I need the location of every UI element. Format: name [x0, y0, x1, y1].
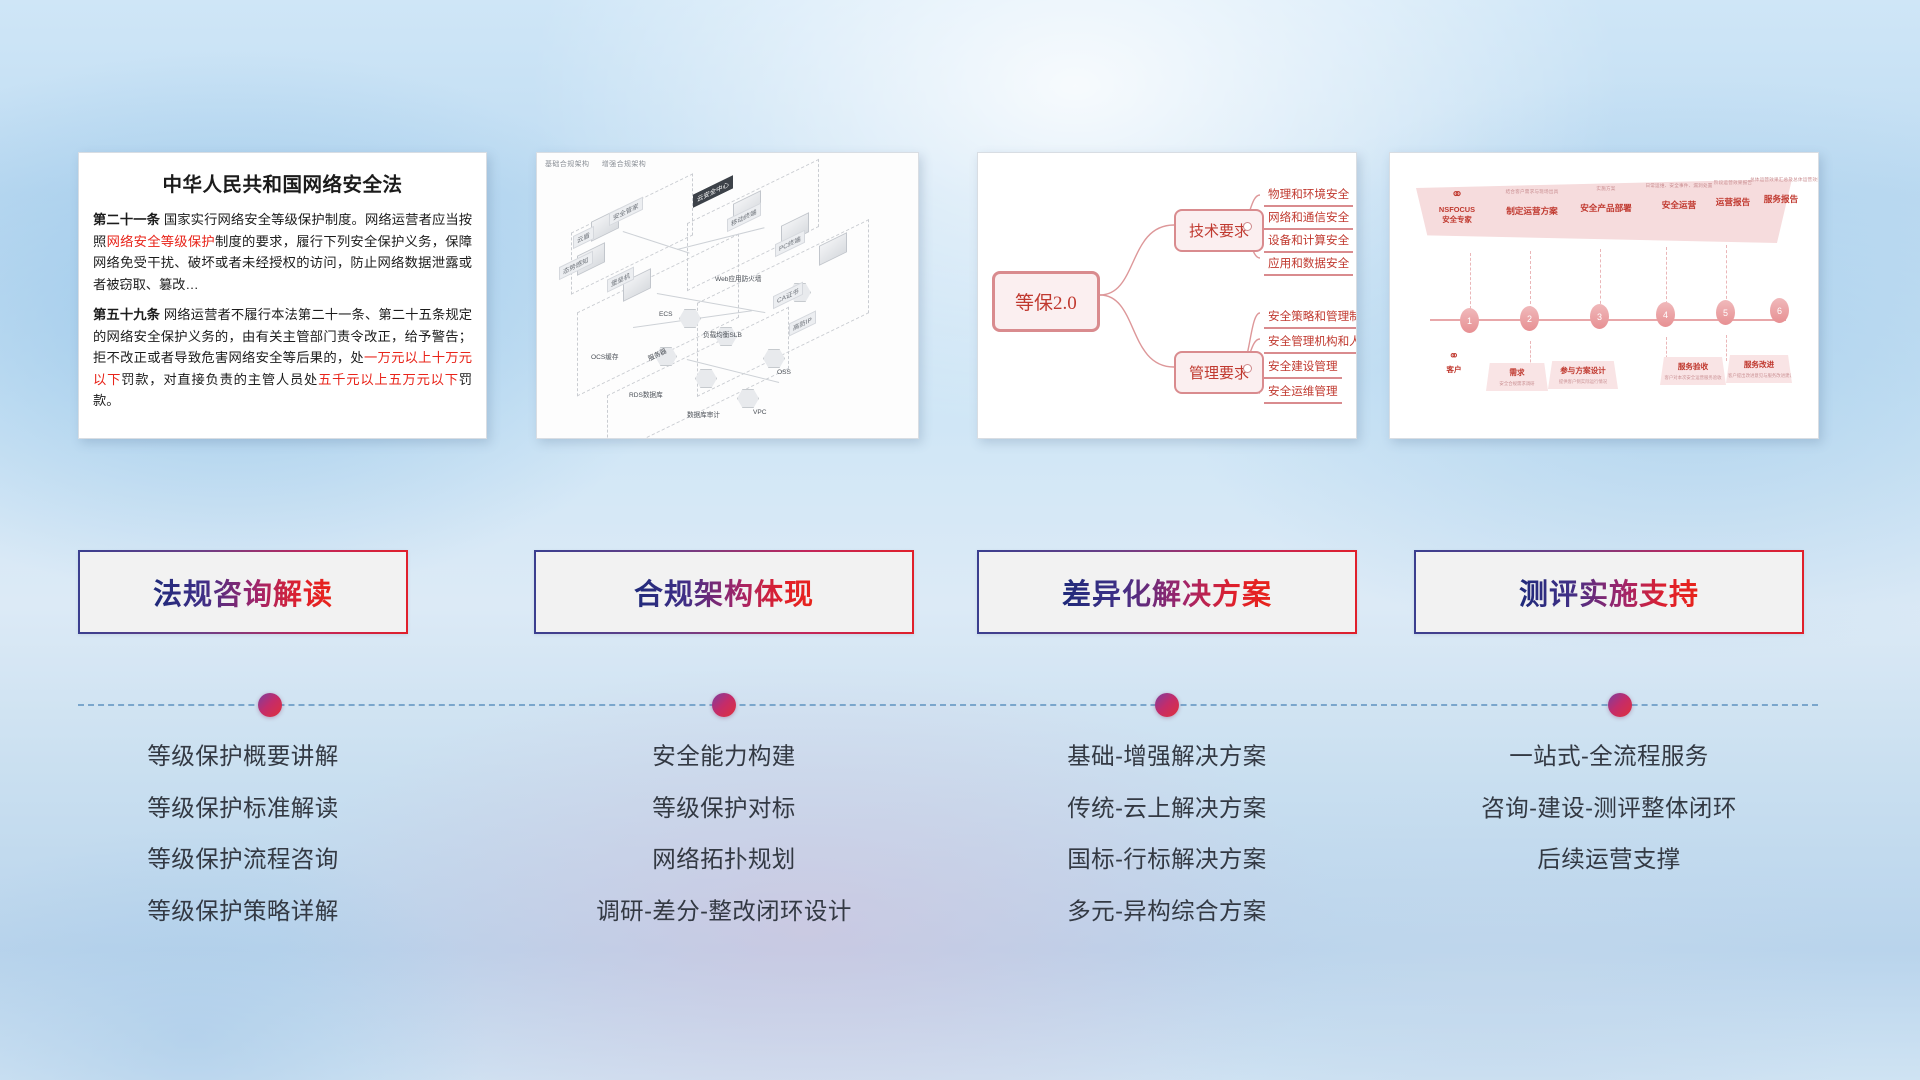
timeline-dashed-line	[78, 704, 1818, 706]
detail-list-row: 等级保护概要讲解 等级保护标准解读 等级保护流程咨询 等级保护策略详解 安全能力…	[0, 745, 1920, 1045]
process-connector	[1600, 249, 1602, 309]
banner-compliance-architecture[interactable]: 合规架构体现	[534, 550, 914, 634]
process-connector	[1666, 247, 1668, 309]
process-bottom-tag: 参与方案设计 提供客户侧实际运行情况	[1548, 361, 1618, 389]
list-item: 等级保护概要讲解	[78, 745, 408, 769]
mindmap-leaf[interactable]: 安全策略和管理制度	[1264, 307, 1357, 329]
ribbon-step: 结合客户需求与现场出具 制定运营方案	[1496, 189, 1568, 217]
timeline-dot-1[interactable]	[258, 693, 282, 717]
mindmap-leaf[interactable]: 设备和计算安全	[1264, 231, 1353, 253]
ribbon-step-main: 安全产品部署	[1570, 202, 1642, 214]
timeline-dot-2[interactable]	[712, 693, 736, 717]
mindmap-collapse-dot[interactable]	[1243, 222, 1252, 231]
list-item: 国标-行标解决方案	[977, 848, 1357, 872]
law-card-body: 中华人民共和国网络安全法 第二十一条 国家实行网络安全等级保护制度。网络运营者应…	[79, 153, 486, 438]
process-step-marker[interactable]: 2	[1520, 306, 1539, 331]
tag-title: 服务改进	[1728, 359, 1790, 370]
tag-title: 需求	[1488, 367, 1546, 378]
mindmap-root-node[interactable]: 等保2.0	[992, 271, 1100, 332]
ribbon-step-sub: 总体运营效果汇总及总体运营效果	[1750, 177, 1812, 183]
law-article-21: 第二十一条 国家实行网络安全等级保护制度。网络运营者应当按照网络安全等级保护制度…	[93, 209, 472, 295]
process-step-marker[interactable]: 1	[1460, 308, 1479, 333]
law-article-59-label: 第五十九条	[93, 307, 160, 322]
law-article-59: 第五十九条 网络运营者不履行本法第二十一条、第二十五条规定的网络安全保护义务的，…	[93, 304, 472, 412]
process-step-marker[interactable]: 4	[1656, 302, 1675, 327]
dengbao-mindmap: 等保2.0 技术要求 物理和环境安全 网络和通信安全 设备和计算安全 应用和数据…	[978, 153, 1356, 438]
list-differentiated-solution: 基础-增强解决方案 传统-云上解决方案 国标-行标解决方案 多元-异构综合方案	[977, 745, 1357, 951]
expert-brand: NSFOCUS	[1426, 205, 1488, 214]
banner-regulation-consulting[interactable]: 法规咨询解读	[78, 550, 408, 634]
process-user-label: 客户	[1426, 364, 1482, 375]
tag-sub: 客户对本次安全运营服务验收	[1662, 375, 1724, 381]
tag-sub: 提供客户侧实际运行情况	[1550, 379, 1616, 385]
expert-role: 安全专家	[1426, 214, 1488, 225]
tag-sub: 客户提出改进意见与服务改进建议	[1728, 373, 1790, 379]
architecture-label: 负载均衡SLB	[703, 329, 742, 339]
architecture-label: ECS	[659, 311, 673, 318]
mindmap-collapse-dot[interactable]	[1243, 364, 1252, 373]
ribbon-step-main: 制定运营方案	[1496, 205, 1568, 217]
architecture-canvas: 云安全中心 安全管家 云盾 态势感知 堡垒机 移动终端 PC终端 Web应用防火…	[537, 153, 918, 438]
architecture-label: Web应用防火墙	[715, 273, 761, 283]
process-bottom-tag: 服务验收 客户对本次安全运营服务验收	[1660, 357, 1726, 385]
cloud-architecture-card: 基础合规架构 增强合规架构	[536, 152, 919, 439]
ribbon-step-main: 服务报告	[1750, 193, 1812, 205]
timeline-dot-3[interactable]	[1155, 693, 1179, 717]
slide-root: 中华人民共和国网络安全法 第二十一条 国家实行网络安全等级保护制度。网络运营者应…	[0, 0, 1920, 1080]
process-bottom-tag: 需求 安全合规需求调研	[1486, 363, 1548, 391]
law-article-59-highlight-2: 五千元以上五万元以下	[318, 372, 459, 387]
nsfocus-process-diagram: ⚭ NSFOCUS 安全专家 结合客户需求与现场出具 制定运营方案 实施方案 安…	[1390, 153, 1818, 438]
list-assessment-support: 一站式-全流程服务 咨询-建设-测评整体闭环 后续运营支撑	[1414, 745, 1804, 900]
architecture-label: OSS	[777, 369, 791, 376]
banner-label: 法规咨询解读	[153, 571, 333, 613]
list-item: 多元-异构综合方案	[977, 900, 1357, 924]
ribbon-step: 实施方案 安全产品部署	[1570, 186, 1642, 214]
timeline	[0, 693, 1920, 717]
list-regulation-consulting: 等级保护概要讲解 等级保护标准解读 等级保护流程咨询 等级保护策略详解	[78, 745, 408, 951]
law-article-21-label: 第二十一条	[93, 212, 160, 227]
list-item: 咨询-建设-测评整体闭环	[1414, 797, 1804, 821]
list-item: 一站式-全流程服务	[1414, 745, 1804, 769]
user-person-icon: ⚭	[1426, 349, 1482, 362]
banner-label: 测评实施支持	[1519, 571, 1699, 613]
architecture-label: 数据库审计	[687, 409, 720, 419]
law-article-21-highlight: 网络安全等级保护	[107, 234, 215, 249]
law-title: 中华人民共和国网络安全法	[93, 168, 472, 197]
tag-sub: 安全合规需求调研	[1488, 381, 1546, 387]
list-item: 网络拓扑规划	[534, 848, 914, 872]
process-expert-block: ⚭ NSFOCUS 安全专家	[1426, 187, 1488, 225]
list-item: 等级保护标准解读	[78, 797, 408, 821]
list-item: 等级保护流程咨询	[78, 848, 408, 872]
mindmap-branch-management[interactable]: 管理要求	[1174, 351, 1264, 394]
nsfocus-process-card: ⚭ NSFOCUS 安全专家 结合客户需求与现场出具 制定运营方案 实施方案 安…	[1389, 152, 1819, 439]
banner-label: 合规架构体现	[634, 571, 814, 613]
list-item: 等级保护对标	[534, 797, 914, 821]
mindmap-branch-technical[interactable]: 技术要求	[1174, 209, 1264, 252]
banner-row: 法规咨询解读 合规架构体现 差异化解决方案 测评实施支持	[0, 550, 1920, 640]
expert-person-icon: ⚭	[1426, 187, 1488, 202]
tag-title: 服务验收	[1662, 361, 1724, 372]
list-item: 调研-差分-整改闭环设计	[534, 900, 914, 924]
mindmap-leaf[interactable]: 安全建设管理	[1264, 357, 1342, 379]
process-bottom-tag: 服务改进 客户提出改进意见与服务改进建议	[1726, 355, 1792, 383]
tag-title: 参与方案设计	[1550, 365, 1616, 376]
process-user-block: ⚭ 客户	[1426, 349, 1482, 375]
list-item: 等级保护策略详解	[78, 900, 408, 924]
ribbon-step: 总体运营效果汇总及总体运营效果 服务报告	[1750, 177, 1812, 205]
list-item: 安全能力构建	[534, 745, 914, 769]
mindmap-leaf[interactable]: 应用和数据安全	[1264, 254, 1353, 276]
law-card: 中华人民共和国网络安全法 第二十一条 国家实行网络安全等级保护制度。网络运营者应…	[78, 152, 487, 439]
image-card-row: 中华人民共和国网络安全法 第二十一条 国家实行网络安全等级保护制度。网络运营者应…	[0, 150, 1920, 440]
mindmap-leaf[interactable]: 物理和环境安全	[1264, 185, 1353, 207]
process-step-marker[interactable]: 5	[1716, 300, 1735, 325]
architecture-label: VPC	[753, 409, 767, 416]
ribbon-step-sub: 结合客户需求与现场出具	[1496, 189, 1568, 195]
list-item: 传统-云上解决方案	[977, 797, 1357, 821]
mindmap-leaf[interactable]: 网络和通信安全	[1264, 208, 1353, 230]
banner-differentiated-solution[interactable]: 差异化解决方案	[977, 550, 1357, 634]
mindmap-leaf[interactable]: 安全管理机构和人员	[1264, 332, 1357, 354]
timeline-dot-4[interactable]	[1608, 693, 1632, 717]
cloud-architecture-diagram: 基础合规架构 增强合规架构	[537, 153, 918, 438]
architecture-label: OCS缓存	[591, 351, 618, 361]
list-compliance-architecture: 安全能力构建 等级保护对标 网络拓扑规划 调研-差分-整改闭环设计	[534, 745, 914, 951]
architecture-label: RDS数据库	[629, 389, 663, 399]
mindmap-leaf[interactable]: 安全运维管理	[1264, 382, 1342, 404]
banner-label: 差异化解决方案	[1062, 571, 1272, 613]
process-step-marker[interactable]: 6	[1770, 298, 1789, 323]
list-item: 基础-增强解决方案	[977, 745, 1357, 769]
list-item: 后续运营支撑	[1414, 848, 1804, 872]
process-connector	[1530, 251, 1532, 309]
process-connector	[1726, 335, 1728, 361]
banner-assessment-support[interactable]: 测评实施支持	[1414, 550, 1804, 634]
ribbon-step-sub: 实施方案	[1570, 186, 1642, 192]
law-article-59-text-b: 罚款，对直接负责的主管人员处	[121, 372, 318, 387]
process-step-marker[interactable]: 3	[1590, 304, 1609, 329]
dengbao-mindmap-card: 等保2.0 技术要求 物理和环境安全 网络和通信安全 设备和计算安全 应用和数据…	[977, 152, 1357, 439]
process-connector	[1470, 253, 1472, 309]
